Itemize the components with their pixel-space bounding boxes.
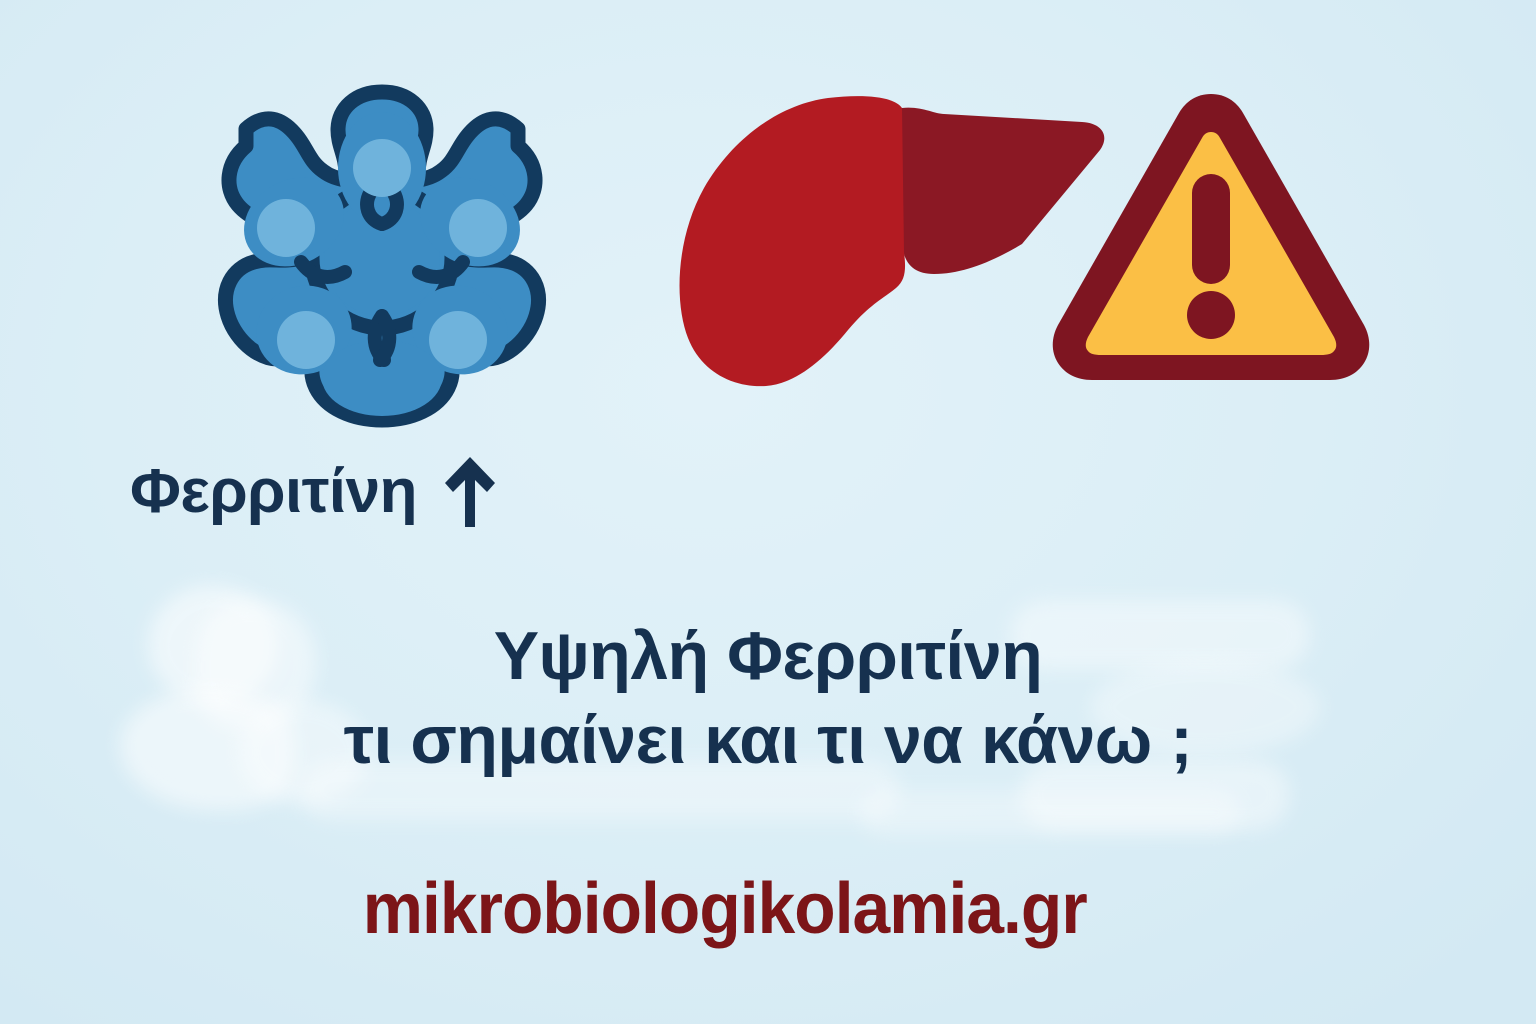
warning-triangle-icon (1046, 84, 1376, 390)
ferritin-molecule-icon (182, 72, 582, 432)
arrow-up-icon (443, 455, 497, 529)
watermark-blob (860, 790, 1240, 835)
icon-row (0, 0, 1536, 440)
page-title: Υψηλή Φερριτίνη τι σημαίνει και τι να κά… (0, 614, 1536, 783)
ferritin-label: Φερριτίνη (130, 455, 497, 529)
liver-icon (662, 92, 1112, 392)
website-url[interactable]: mikrobiologikolamia.gr (46, 868, 1490, 950)
page-title-line-2: τι σημαίνει και τι να κάνω ; (0, 698, 1536, 782)
ferritin-label-text: Φερριτίνη (130, 461, 417, 523)
poster-canvas: Φερριτίνη Υψηλή Φερριτίνη τι σημαίνει κα… (0, 0, 1536, 1024)
page-title-line-1: Υψηλή Φερριτίνη (0, 614, 1536, 698)
exclamation-dot (1187, 291, 1235, 339)
exclamation-bar (1192, 174, 1230, 284)
liver-left-lobe (680, 96, 906, 386)
